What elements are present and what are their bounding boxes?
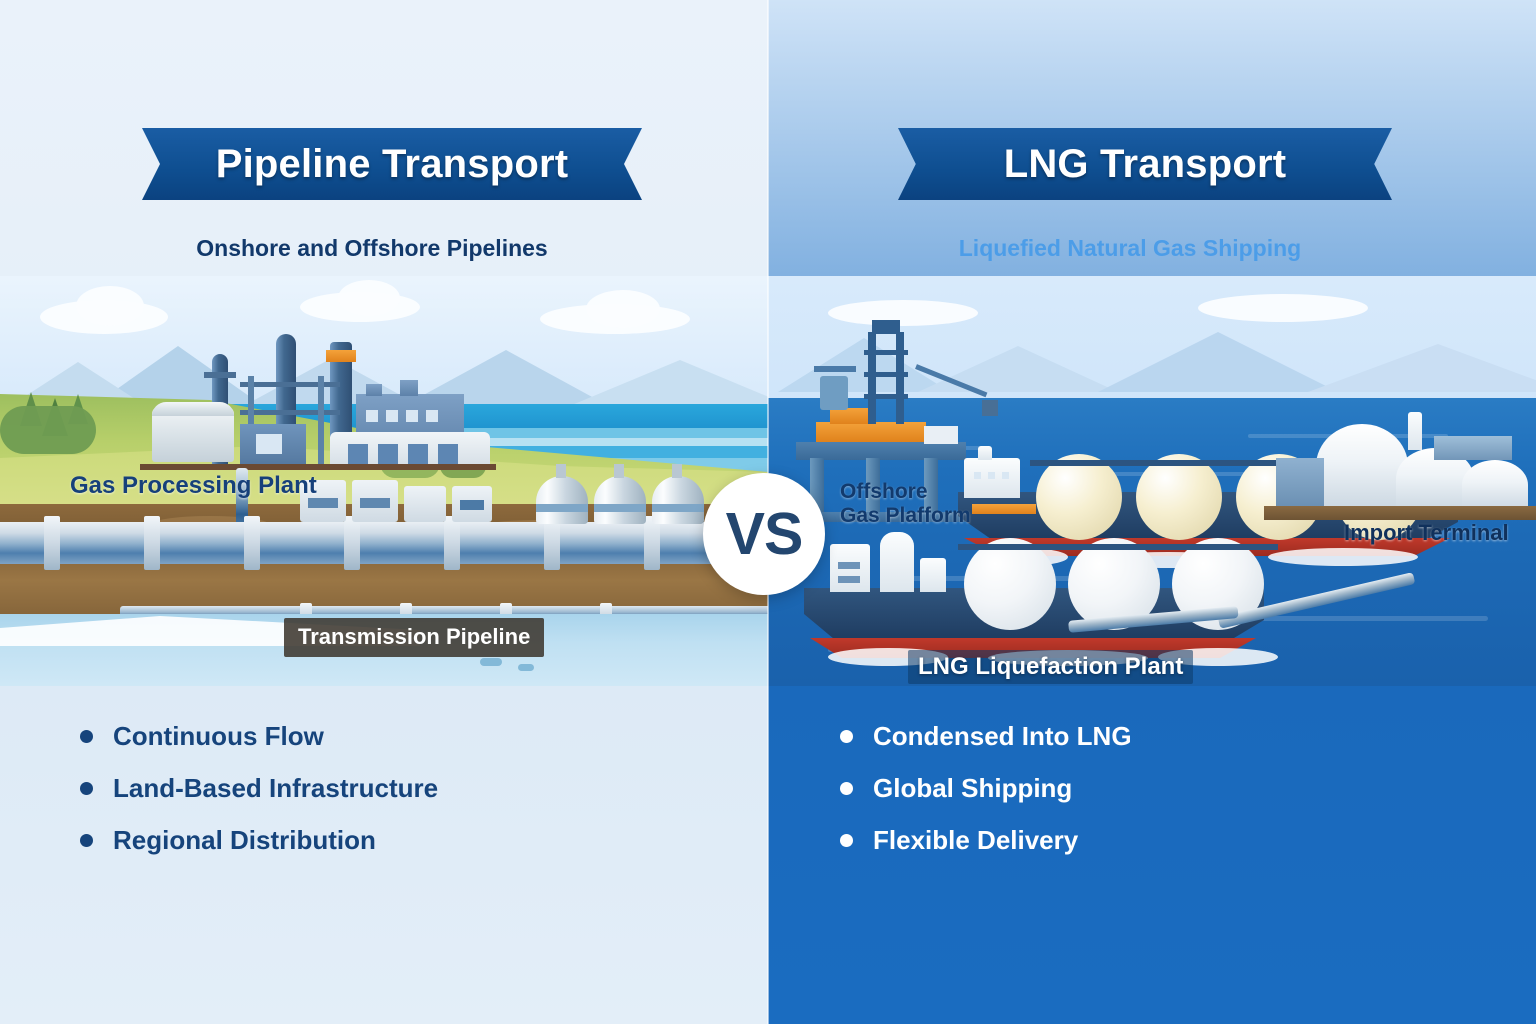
bullet-dot-icon [840, 834, 853, 847]
lng-tank-sphere [964, 538, 1056, 630]
terminal-building [1434, 436, 1512, 460]
list-item-label: Land-Based Infrastructure [113, 773, 438, 804]
bullet-dot-icon [840, 730, 853, 743]
deck-rail [972, 504, 1036, 514]
pipe-flange [344, 516, 360, 570]
derrick-leg [896, 332, 904, 424]
vessel-valve [672, 464, 682, 478]
plant-base [140, 464, 496, 470]
offshore-gas-platform-label: Offshore Gas Plafform [840, 480, 971, 529]
vessel-band [536, 504, 588, 512]
gantry-beam [240, 382, 340, 387]
station-vent [360, 498, 390, 508]
window [406, 410, 418, 422]
vessel-band [594, 504, 646, 512]
lng-subtitle: Liquefied Natural Gas Shipping [880, 235, 1380, 262]
mountain [1098, 332, 1338, 392]
pipeline-subtitle: Onshore and Offshore Pipelines [122, 235, 622, 262]
import-terminal-label: Import Terminal [1344, 520, 1509, 546]
vessel-valve [556, 464, 566, 478]
roof-unit [400, 380, 418, 396]
lng-storage-dome [1462, 460, 1528, 510]
list-item: Condensed Into LNG [840, 710, 1132, 762]
ship-funnel [978, 446, 992, 460]
gantry-beam [240, 410, 340, 415]
pipe-flange [444, 516, 460, 570]
list-item: Continuous Flow [80, 710, 438, 762]
gantry-beam [204, 372, 236, 378]
compressor-station [404, 486, 446, 522]
crane-roof [814, 366, 856, 372]
bridge-window [988, 472, 995, 479]
window [378, 444, 398, 464]
deck-walkway [958, 544, 1278, 550]
window [426, 410, 438, 422]
pipeline-transport-panel: Pipeline Transport Onshore and Offshore … [0, 0, 768, 1024]
list-item-label: Continuous Flow [113, 721, 324, 752]
lng-liquefaction-plant-label: LNG Liquefaction Plant [908, 650, 1193, 684]
window [386, 410, 398, 422]
derrick-crown [872, 320, 900, 334]
vessel-band [652, 504, 704, 512]
process-column [880, 532, 914, 592]
cloud-icon [828, 300, 978, 326]
derrick-leg [868, 332, 876, 424]
gas-storage-vessel [594, 476, 646, 524]
station-vent [460, 500, 484, 510]
lng-storage-dome [1316, 424, 1408, 508]
terminal-stack [1408, 412, 1422, 450]
terminal-quay [1264, 506, 1536, 520]
list-item: Flexible Delivery [840, 814, 1132, 866]
lng-tank-sphere [1036, 454, 1122, 540]
bridge-window [1002, 472, 1009, 479]
vs-label: VS [726, 500, 803, 568]
pipe-flange [644, 516, 660, 570]
water-ripple [518, 664, 534, 671]
gas-storage-vessel [652, 476, 704, 524]
pipe-flange [44, 516, 60, 570]
wake-foam [1268, 548, 1418, 566]
lng-tank-sphere [1136, 454, 1222, 540]
mountain [560, 360, 768, 410]
platform-cabin [924, 426, 958, 444]
derrick-brace [864, 372, 908, 377]
list-item-label: Global Shipping [873, 773, 1072, 804]
terminal-building [1276, 458, 1324, 508]
vs-badge: VS [703, 473, 825, 595]
platform-module [816, 422, 926, 442]
pipe-flange [544, 516, 560, 570]
bridge-window [838, 576, 860, 583]
gas-storage-vessel [536, 476, 588, 524]
window [438, 444, 458, 464]
bridge-window [974, 472, 981, 479]
lng-title-banner: LNG Transport [898, 128, 1392, 200]
infographic-root: Pipeline Transport Onshore and Offshore … [0, 0, 1536, 1024]
list-item: Global Shipping [840, 762, 1132, 814]
vessel-valve [614, 464, 624, 478]
pipeline-benefits-list: Continuous Flow Land-Based Infrastructur… [80, 710, 438, 866]
bush-icon [0, 406, 96, 454]
bullet-dot-icon [840, 782, 853, 795]
pipe-flange [144, 516, 160, 570]
water-ripple [480, 658, 502, 666]
window [256, 434, 282, 454]
mountain [918, 346, 1118, 392]
gas-processing-plant-label: Gas Processing Plant [70, 472, 317, 500]
cloud-icon [586, 290, 660, 328]
bullet-dot-icon [80, 834, 93, 847]
cloud-icon [1198, 294, 1368, 322]
list-item-label: Regional Distribution [113, 825, 376, 856]
cloud-icon [338, 280, 400, 316]
window [348, 444, 368, 464]
derrick-brace [864, 350, 908, 355]
crane-house [820, 376, 848, 410]
lng-title: LNG Transport [1004, 142, 1287, 187]
list-item-label: Condensed Into LNG [873, 721, 1132, 752]
roof-unit [366, 384, 382, 396]
storage-tank-roof [152, 402, 234, 416]
list-item-label: Flexible Delivery [873, 825, 1078, 856]
window [366, 410, 378, 422]
mountain [1308, 344, 1536, 392]
list-item: Regional Distribution [80, 814, 438, 866]
lng-benefits-list: Condensed Into LNG Global Shipping Flexi… [840, 710, 1132, 866]
bullet-dot-icon [80, 782, 93, 795]
bridge-window [838, 562, 860, 569]
transmission-pipeline-label: Transmission Pipeline [284, 618, 544, 657]
crane-hook [982, 400, 998, 416]
pipeline-title-banner: Pipeline Transport [142, 128, 642, 200]
cloud-icon [76, 286, 144, 326]
pipe-flange [244, 516, 260, 570]
list-item: Land-Based Infrastructure [80, 762, 438, 814]
pipeline-title: Pipeline Transport [216, 142, 569, 187]
gantry-column [318, 376, 324, 464]
bullet-dot-icon [80, 730, 93, 743]
process-module [920, 558, 946, 592]
derrick-brace [864, 394, 908, 399]
tower-collar [326, 350, 356, 362]
window [408, 444, 428, 464]
